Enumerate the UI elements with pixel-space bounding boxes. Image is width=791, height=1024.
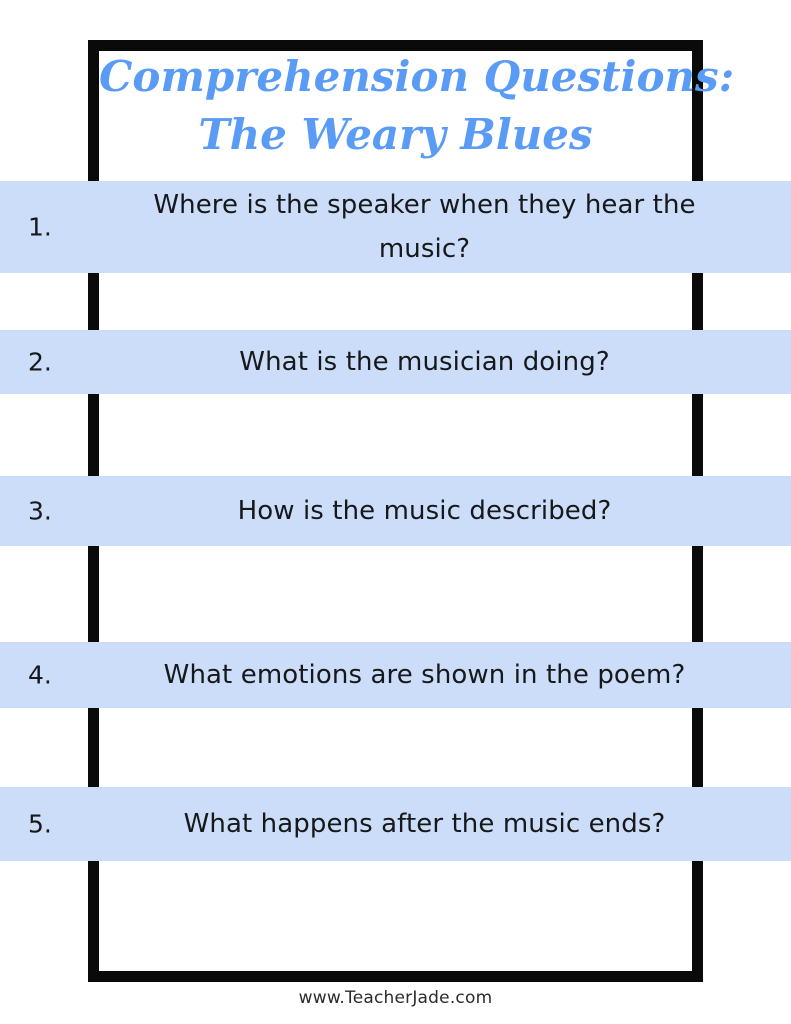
- title-line-2: The Weary Blues: [99, 106, 692, 164]
- question-number-1: 1.: [28, 215, 52, 240]
- question-row-1: 1. Where is the speaker when they hear t…: [0, 181, 791, 273]
- question-text-1: Where is the speaker when they hear the …: [0, 183, 791, 271]
- question-text-3: How is the music described?: [0, 489, 791, 533]
- title-line-1: Comprehension Questions:: [99, 48, 692, 106]
- question-row-2: 2. What is the musician doing?: [0, 330, 791, 394]
- question-row-5: 5. What happens after the music ends?: [0, 787, 791, 861]
- question-text-2: What is the musician doing?: [0, 340, 791, 384]
- question-row-4: 4. What emotions are shown in the poem?: [0, 642, 791, 708]
- question-number-3: 3.: [28, 499, 52, 524]
- question-number-4: 4.: [28, 663, 52, 688]
- question-text-4: What emotions are shown in the poem?: [0, 653, 791, 697]
- question-number-5: 5.: [28, 812, 52, 837]
- question-number-2: 2.: [28, 350, 52, 375]
- page-title: Comprehension Questions: The Weary Blues: [99, 48, 692, 164]
- footer-website-credit: www.TeacherJade.com: [0, 988, 791, 1008]
- question-row-3: 3. How is the music described?: [0, 476, 791, 546]
- question-text-5: What happens after the music ends?: [0, 802, 791, 846]
- worksheet-page: Comprehension Questions: The Weary Blues…: [0, 0, 791, 1024]
